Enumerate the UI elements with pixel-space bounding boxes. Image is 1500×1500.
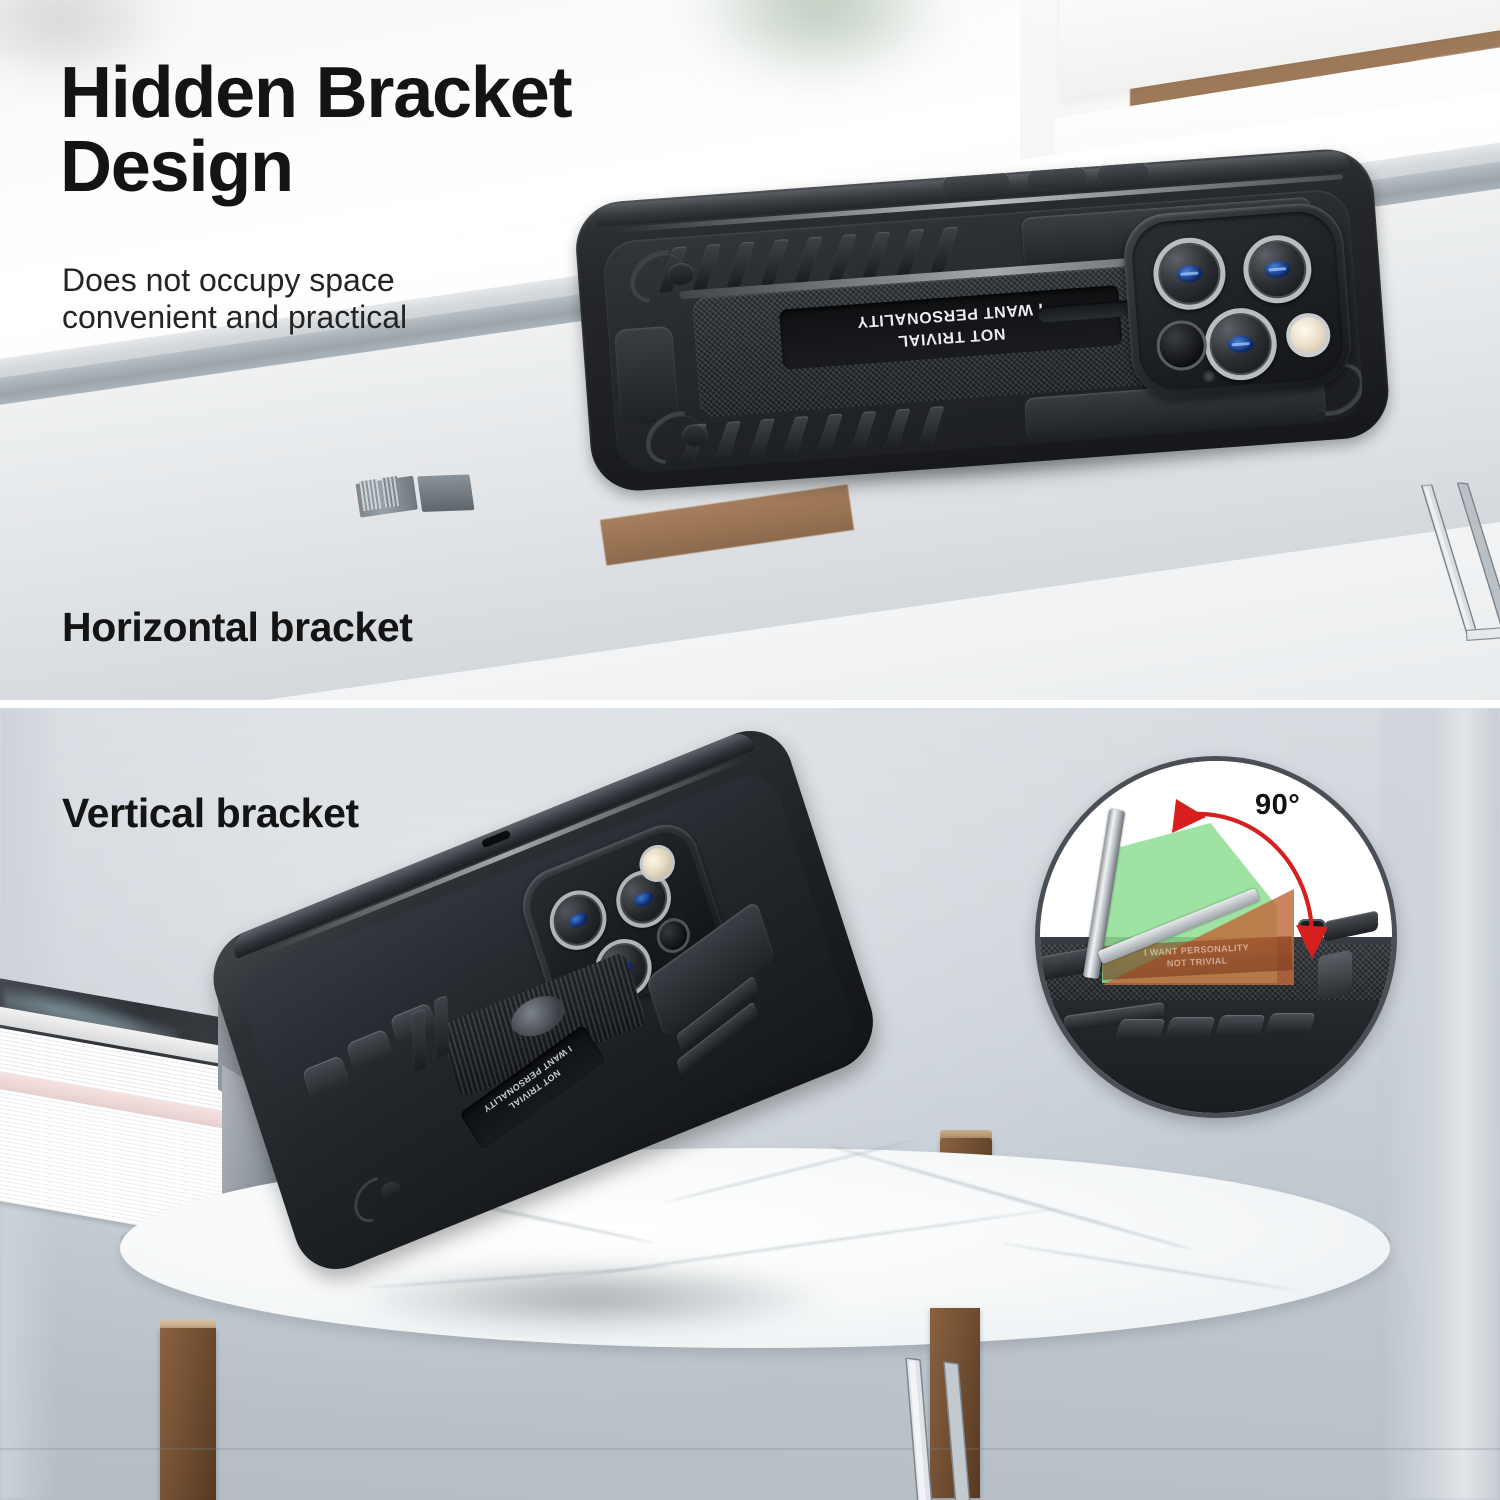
kickstand-leg-svg (880, 1358, 1010, 1500)
camera-lens-3 (1202, 306, 1279, 383)
camera-module (1121, 200, 1354, 401)
page-subtitle: Does not occupy space convenient and pra… (62, 262, 582, 336)
subtitle-line-1: Does not occupy space (62, 262, 582, 299)
top-panel-horizontal-bracket: NOT TRIVIAL I WANT PERSONALITY (0, 0, 1500, 700)
product-infographic: NOT TRIVIAL I WANT PERSONALITY (0, 0, 1500, 1500)
title-line-1: Hidden Bracket (60, 56, 780, 130)
caption-vertical-bracket: Vertical bracket (62, 790, 359, 837)
kickstand-angle-inset: I WANT PERSONALITY NOT TRIVIAL 90° (1035, 756, 1397, 1118)
camera-module-inner (1130, 209, 1346, 392)
lidar-sensor (1155, 319, 1209, 373)
rotation-arrow-icon (1040, 761, 1392, 1113)
armor-plate-left (614, 326, 679, 426)
volume-down-button (1096, 160, 1149, 184)
side-button-2 (346, 1029, 394, 1071)
kickstand-leg-horizontal (1414, 478, 1500, 646)
camera-lens-2 (1241, 233, 1314, 306)
background-curtain-right (1380, 708, 1500, 1500)
page-title: Hidden Bracket Design (60, 56, 780, 204)
floor-line (0, 1448, 1500, 1450)
table-leg-front (160, 1328, 216, 1500)
angle-label: 90° (1255, 789, 1325, 823)
camera-lens-1 (1151, 235, 1228, 312)
corner-swirl-icon (346, 1168, 405, 1231)
camera-flash (1285, 312, 1332, 359)
bottom-panel-vertical-bracket: NOT TRIVIAL I WANT PERSONALITY (0, 708, 1500, 1500)
panel-divider (0, 700, 1500, 708)
phone-case-vertical: NOT TRIVIAL I WANT PERSONALITY (310, 933, 950, 1353)
camera-microphone (1203, 370, 1216, 383)
kickstand-leg-vertical (880, 1358, 1010, 1500)
phone-shadow (350, 1263, 830, 1333)
side-button-1 (302, 1055, 350, 1099)
subtitle-line-2: convenient and practical (62, 299, 582, 336)
kickstand-leg-svg (1414, 478, 1500, 646)
caption-horizontal-bracket: Horizontal bracket (62, 604, 413, 651)
title-line-2: Design (60, 130, 780, 204)
